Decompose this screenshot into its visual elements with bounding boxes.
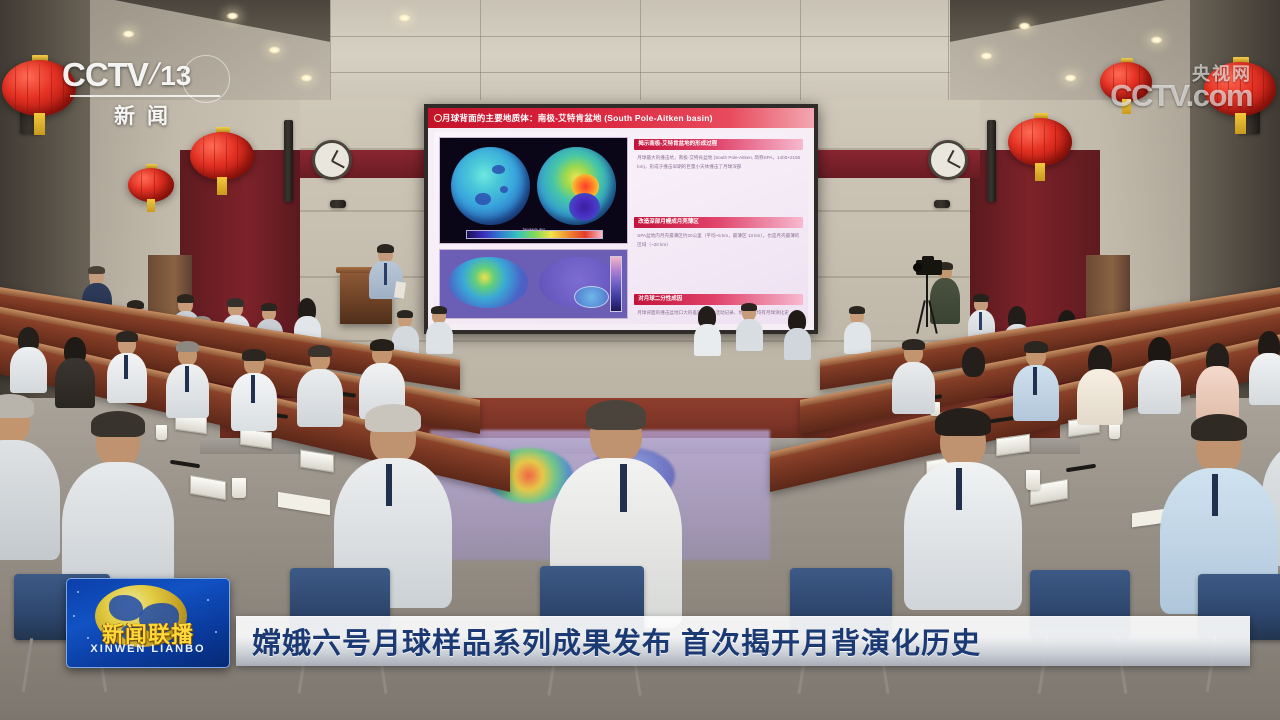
ceiling-spotlight [268, 46, 281, 54]
watermark-english: CCTV.com [1110, 78, 1252, 114]
xinwen-lianbo-badge: 新闻联播 XINWEN LIANBO [66, 578, 230, 668]
slide-section: 改造深部月幔成月壳薄区 SPA盆地内月壳最薄区约20公里（平均~5 km，最薄区… [634, 217, 803, 249]
wall-speaker-right [987, 120, 996, 202]
projection-screen[interactable]: 月球背面的主要地质体：南极-艾特肯盆地 (South Pole-Aitken b… [424, 104, 818, 334]
slide-section: 对月球二分性成因 月球背面的撞击盆地口大的差异，火山活动记录、地质过程均有月球演… [634, 294, 803, 317]
red-lantern [1008, 118, 1072, 168]
cctv-letters: CCTV [62, 58, 148, 92]
red-lantern [128, 168, 174, 204]
slide-title: 月球背面的主要地质体：南极-艾特肯盆地 (South Pole-Aitken b… [428, 108, 814, 128]
cctv13-channel-logo: CCTV/13 新闻 [62, 58, 220, 130]
slide: 月球背面的主要地质体：南极-艾特肯盆地 (South Pole-Aitken b… [428, 108, 814, 330]
paper-cup [232, 478, 246, 498]
slide-section-heading: 对月球二分性成因 [634, 294, 803, 305]
channel-chinese-name: 新闻 [74, 100, 220, 130]
ceiling-spotlight [398, 14, 411, 22]
wall-clock-right [928, 140, 968, 180]
topography-colorbar [466, 230, 603, 239]
moon-farside-globe [537, 147, 616, 225]
red-lantern [190, 132, 254, 182]
slide-title-marker [434, 114, 442, 122]
paper-cup [1109, 424, 1120, 439]
wall-camera-left [330, 200, 346, 208]
lunar-topography-figure: Topography (km) [439, 137, 628, 244]
wall-camera-right [934, 200, 950, 208]
broadcast-frame: 月球背面的主要地质体：南极-艾特肯盆地 (South Pole-Aitken b… [0, 0, 1280, 720]
slide-figure-column: Topography (km) [439, 137, 628, 319]
moon-nearside-globe [451, 147, 530, 225]
ceiling-spotlight [300, 74, 313, 82]
colorbar-caption: Topography (km) [440, 227, 627, 231]
crustal-colorbar [610, 256, 621, 312]
crustal-thickness-figure [439, 249, 628, 319]
ceiling-spotlight [226, 12, 239, 20]
paper-cup [156, 425, 167, 440]
wall-speaker-left [284, 120, 293, 202]
ceiling-spotlight [1150, 36, 1163, 44]
ceiling-spotlight [122, 30, 135, 38]
terrane-map-right [539, 257, 618, 309]
wall-clock [312, 140, 352, 180]
lower-third-banner: 嫦娥六号月球样品系列成果发布 首次揭开月背演化历史 [236, 616, 1250, 666]
slide-text-column: 揭示南极-艾特肯盆地的形成过程 月球最大的撞击坑，南极-艾特肯盆地 (South… [634, 137, 803, 319]
slide-section: 揭示南极-艾特肯盆地的形成过程 月球最大的撞击坑，南极-艾特肯盆地 (South… [634, 139, 803, 171]
logo-ring-icon [182, 55, 230, 103]
slide-section-heading: 揭示南极-艾特肯盆地的形成过程 [634, 139, 803, 150]
cctv-com-watermark: 央视网 CCTV.com [1110, 60, 1252, 114]
paper-cup [1026, 470, 1040, 490]
ceiling-spotlight [980, 52, 993, 60]
slide-section-body: 月球最大的撞击坑，南极-艾特肯盆地 (South Pole-Aitken, 简称… [634, 150, 803, 171]
ceiling-spotlight [1018, 22, 1031, 30]
slide-body: Topography (km) 揭示南极-艾特肯盆地的形成过程 月球最大的撞击坑… [434, 132, 808, 324]
slide-section-body: 月球背面的撞击盆地口大的差异，火山活动记录、地质过程均有月球演化史 [634, 305, 803, 317]
ceiling-spotlight [1064, 74, 1077, 82]
headline-text: 嫦娥六号月球样品系列成果发布 首次揭开月背演化历史 [236, 620, 981, 662]
badge-pinyin: XINWEN LIANBO [67, 643, 229, 655]
terrane-map-left [449, 257, 528, 309]
slide-section-heading: 改造深部月幔成月壳薄区 [634, 217, 803, 228]
slide-section-body: SPA盆地内月壳最薄区约20公里（平均~5 km，最薄区 13 km），也是月壳… [634, 228, 803, 249]
